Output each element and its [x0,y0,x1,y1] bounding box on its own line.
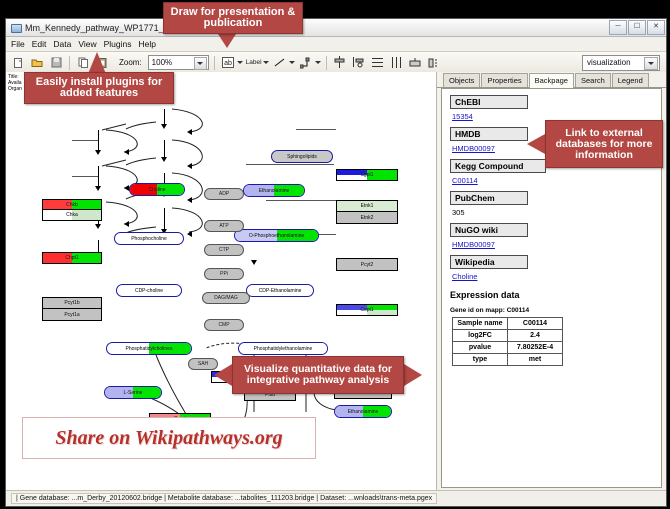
callout-links: Link to external databases for more info… [545,120,663,168]
ungroup-icon[interactable] [427,55,443,71]
expression-table: Sample name C00114 log2FC 2.4 pvalue 7.8… [452,317,563,366]
node-cmp[interactable]: CMP [204,319,244,331]
arrow-icon [124,221,129,227]
tab-search[interactable]: Search [575,73,611,87]
close-icon[interactable]: ✕ [647,20,665,35]
arrow-icon [124,149,129,155]
db-link-nugo[interactable]: HMDB00097 [452,240,661,249]
open-icon[interactable] [29,55,45,71]
gene-id-line: Gene id on mapp: C00114 [450,307,661,314]
expr-value: met [508,354,563,366]
gene-chka[interactable]: Chka [42,210,102,221]
gene-chkb[interactable]: Chkb [42,199,102,210]
node-label: Sphingolipids [287,154,317,160]
node-ctp[interactable]: CTP [204,244,244,256]
expression-data-heading: Expression data [450,290,661,300]
app-icon [10,22,21,33]
label-tool-group[interactable]: Label [246,59,269,66]
arrow-icon [187,197,192,203]
node-label: Phosphatidylethanolamine [254,346,313,352]
menu-bar: File Edit Data View Plugins Help [6,37,666,52]
node-cdp-ethanolamine[interactable]: CDP-Ethanolamine [246,284,314,297]
expr-key: pvalue [453,342,508,354]
sidebar-tabs: Objects Properties Backpage Search Legen… [437,72,666,88]
window-controls: ─ ☐ ✕ [609,20,666,35]
node-label: SAH [198,361,208,367]
node-phosphatidylethanolamine[interactable]: Phosphatidylethanolamine [238,342,328,355]
group-icon[interactable] [408,55,424,71]
maximize-icon[interactable]: ☐ [628,20,646,35]
node-label: CTP [219,247,229,253]
gene-label: Pcyt1b [64,300,79,306]
title-bar: Mm_Kennedy_pathway_WP1771_45176.gpml ─ ☐… [6,19,666,37]
menu-item-edit[interactable]: Edit [32,39,47,49]
callout-draw-arrow-icon [218,34,236,48]
db-header-chebi: ChEBI [450,95,528,109]
expr-value: 2.4 [508,330,563,342]
tab-legend[interactable]: Legend [612,73,649,87]
callout-visualize: Visualize quantitative data for integrat… [232,356,404,394]
text-tool-group[interactable]: ab [220,55,243,71]
tab-objects[interactable]: Objects [443,73,480,87]
gene-label: Chkb [66,202,78,208]
gene-label: Etnk2 [361,215,374,221]
node-sphingolipids[interactable]: Sphingolipids [271,150,333,163]
toolbar-separator [69,56,70,70]
node-cdp-choline[interactable]: CDP-choline [116,284,182,297]
expr-value: 7.80252E-4 [508,342,563,354]
pathway-info: Title: Availa Organ [8,74,22,92]
toolbar-separator [214,56,215,70]
node-atp[interactable]: ATP [204,220,244,232]
node-label: Phosphocholine [131,236,167,242]
gene-label: Sgpl1 [361,172,374,178]
visualization-select[interactable]: visualization [582,55,660,71]
gene-etnk2[interactable]: Etnk2 [336,212,398,224]
text-tool-icon[interactable]: ab [220,55,236,71]
db-value-pubchem: 305 [452,208,661,217]
node-label: Ethanolamine [259,188,290,194]
gene-label: Chpt1 [65,255,78,261]
gene-pcyt1a[interactable]: Pcyt1a [42,309,102,321]
node-label: CDP-Ethanolamine [259,288,302,294]
connector-tool-group[interactable] [298,55,321,71]
status-text: | Gene database: ...m_Derby_20120602.bri… [11,493,437,504]
align-center-icon[interactable] [332,55,348,71]
gene-chpt1[interactable]: Chpt1 [42,252,102,264]
expr-key: Sample name [453,318,508,330]
node-label: Choline [149,187,166,193]
db-header-wikipedia: Wikipedia [450,255,528,269]
zoom-label: Zoom: [119,58,142,67]
svg-text:ab: ab [224,60,232,67]
gene-cept1[interactable]: Cept1 [336,304,398,316]
gene-label: Cept1 [360,307,373,313]
table-row: pvalue 7.80252E-4 [453,342,563,354]
minimize-icon[interactable]: ─ [609,20,627,35]
connector-tool-icon[interactable] [298,55,314,71]
callout-visualize-arrow-left-icon [214,364,232,386]
node-label: Ethanolamine [348,409,379,415]
visualization-value: visualization [587,58,631,67]
node-label: DAG/MAG [214,295,238,301]
distribute-horizontal-icon[interactable] [389,55,405,71]
expr-key: log2FC [453,330,508,342]
menu-item-view[interactable]: View [78,39,96,49]
callout-share-text: Share on Wikipathways.org [55,427,282,450]
callout-links-arrow-icon [527,134,545,154]
tab-properties[interactable]: Properties [481,73,527,87]
node-o-phosphoethanolamine[interactable]: O-Phosphoethanolamine [234,229,319,242]
db-header-nugo: NuGO wiki [450,223,528,237]
chevron-down-icon[interactable] [194,57,207,70]
node-phosphatidylcholines[interactable]: Phosphatidylcholines [106,342,192,355]
callout-plugins-arrow-icon [88,52,106,74]
gene-label: Etnk1 [361,203,374,209]
table-row: Sample name C00114 [453,318,563,330]
node-label: CMP [218,322,229,328]
arrow-icon [251,260,257,265]
arrow-icon [187,231,192,237]
callout-share: Share on Wikipathways.org [22,417,316,459]
menu-item-help[interactable]: Help [139,39,156,49]
tab-backpage[interactable]: Backpage [529,73,574,88]
db-link-wikipedia[interactable]: Choline [452,272,661,281]
node-label: Phosphatidylcholines [126,346,173,352]
callout-visualize-arrow-right-icon [404,364,422,386]
arrow-icon [187,163,192,169]
table-row: type met [453,354,563,366]
node-label: ATP [219,223,228,229]
gene-label: Pcyt1a [64,312,79,318]
new-icon[interactable] [10,55,26,71]
menu-item-file[interactable]: File [11,39,25,49]
node-ppi[interactable]: PPi [204,268,244,280]
table-row: log2FC 2.4 [453,330,563,342]
arrow-icon [187,129,192,135]
pathway-info-organism: Organ [8,86,22,92]
node-label: O-Phosphoethanolamine [249,233,304,239]
node-dag-mag[interactable]: DAG/MAG [202,292,250,304]
status-bar: | Gene database: ...m_Derby_20120602.bri… [6,490,666,506]
gene-pcyt2[interactable]: Pcyt2 [336,258,398,271]
toolbar-separator [326,56,327,70]
chevron-down-icon[interactable] [644,57,658,70]
align-left-icon[interactable] [351,55,367,71]
zoom-value: 100% [152,58,172,67]
db-header-hmdb: HMDB [450,127,528,141]
node-adp[interactable]: ADP [204,188,244,200]
node-label: PPi [220,271,228,277]
node-l-serine-left[interactable]: L-Serine [104,386,162,399]
node-ethanolamine-bottom[interactable]: Ethanolamine [334,405,392,418]
distribute-vertical-icon[interactable] [370,55,386,71]
line-tool-icon[interactable] [272,55,288,71]
db-link-kegg[interactable]: C00114 [452,176,661,185]
db-header-pubchem: PubChem [450,191,528,205]
menu-item-plugins[interactable]: Plugins [104,39,132,49]
node-ethanolamine-top[interactable]: Ethanolamine [243,184,305,197]
gene-label: Pcyt2 [361,262,374,268]
gene-etnk1[interactable]: Etnk1 [336,200,398,212]
db-header-kegg: Kegg Compound [450,159,546,173]
expr-key: type [453,354,508,366]
node-choline-top[interactable]: Choline [129,183,185,196]
node-label: ADP [219,191,229,197]
save-icon[interactable] [48,55,64,71]
expr-value: C00114 [508,318,563,330]
callout-draw: Draw for presentation & publication [163,2,303,34]
gene-pcyt1b[interactable]: Pcyt1b [42,297,102,309]
zoom-select[interactable]: 100% [148,55,209,70]
label-tool-label: Label [246,59,262,66]
node-label: CDP-choline [135,288,163,294]
node-phosphocholine[interactable]: Phosphocholine [114,232,184,245]
callout-plugins: Easily install plugins for added feature… [24,72,174,104]
menu-item-data[interactable]: Data [53,39,71,49]
gene-label: Chka [66,212,78,218]
gene-sgpl1[interactable]: Sgpl1 [336,169,398,181]
node-label: L-Serine [124,390,143,396]
line-tool-group[interactable] [272,55,295,71]
